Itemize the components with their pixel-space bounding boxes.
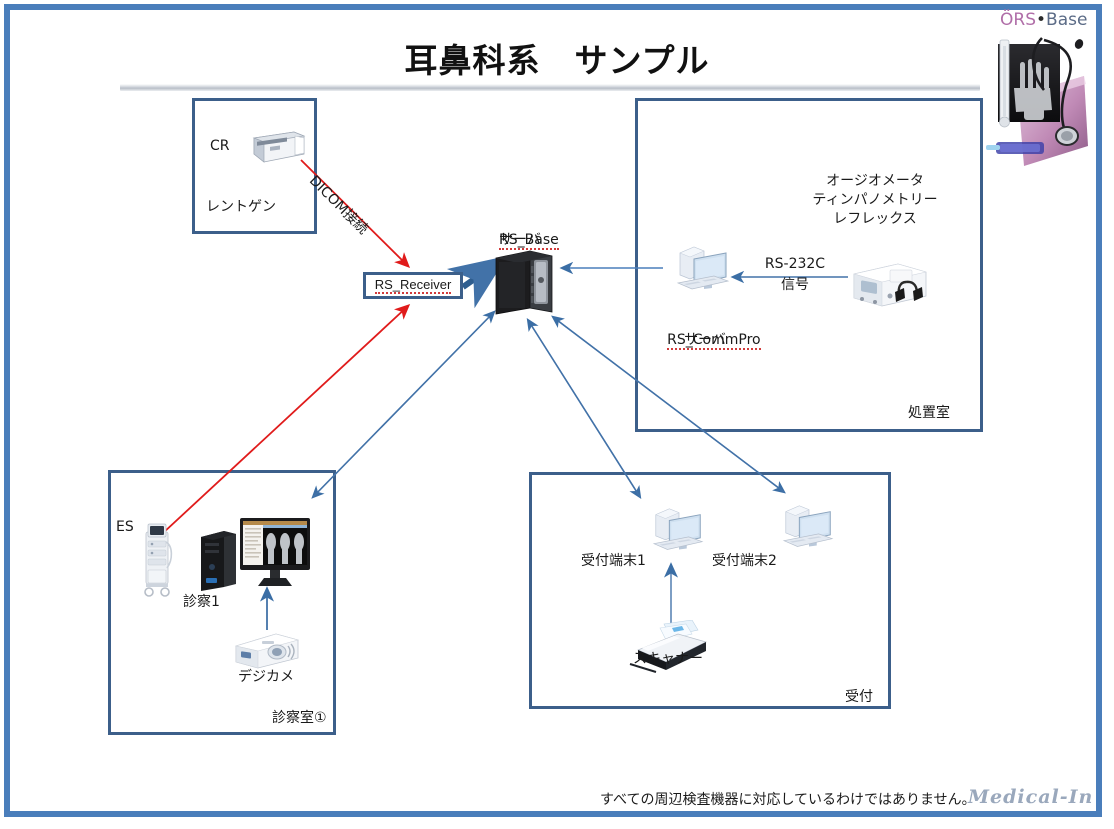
rs-receiver-label: RS_Receiver — [375, 277, 452, 294]
cr-label: CR — [210, 137, 230, 156]
digital-camera-label: デジカメ — [238, 668, 294, 687]
rs-base-logo-dot: • — [1036, 10, 1046, 30]
title-divider — [120, 84, 980, 91]
reception-pc1-label: 受付端末1 — [581, 552, 646, 571]
cr-printer-icon — [248, 124, 310, 168]
es-label: ES — [116, 518, 134, 537]
exam-pc-label: 診察1 — [183, 593, 220, 612]
reception-pc1-icon — [640, 505, 718, 563]
rs-base-label-line2: サーバ — [460, 231, 580, 250]
rs-commpro-label-line2: サーバ — [645, 331, 765, 350]
rs-commpro-pc-icon — [664, 243, 744, 303]
rs-base-logo-base: Base — [1046, 10, 1087, 30]
rs-base-brand-logo: ÖRS•Base — [1000, 10, 1087, 30]
exam-monitor-icon — [238, 516, 312, 588]
footer-brand-logo: Medical-In — [968, 786, 1093, 808]
audiometer-label-line2: ティンパノメトリー — [790, 191, 960, 210]
reception-pc2-label: 受付端末2 — [712, 552, 777, 571]
page-title: 耳鼻科系 サンプル — [0, 34, 1114, 82]
endoscope-cart-icon — [135, 520, 179, 598]
scanner-label: スキャナー — [633, 650, 703, 669]
footer-note: すべての周辺検査機器に対応しているわけではありません。 — [600, 789, 976, 809]
audiometer-icon — [848, 252, 940, 314]
diagram-canvas: 耳鼻科系 サンプル 処置室 診察室① 受付 — [0, 0, 1114, 829]
rs232c-label-line2: 信号 — [740, 276, 850, 295]
rs-base-logo-rs: RS — [1013, 10, 1036, 30]
rs232c-label-line1: RS-232C — [740, 255, 850, 274]
digital-camera-icon — [232, 628, 302, 672]
room-label-reception: 受付 — [845, 686, 873, 706]
cr-sublabel: レントゲン — [206, 198, 276, 217]
room-label-treatment: 処置室 — [908, 402, 950, 422]
rs-receiver-node[interactable]: RS_Receiver — [363, 272, 463, 299]
exam-pc-tower-icon — [198, 527, 240, 593]
room-label-exam1: 診察室① — [272, 707, 327, 727]
rs-base-logo-mark: Ö — [1000, 10, 1013, 30]
reception-pc2-icon — [770, 502, 848, 560]
audiometer-label-line3: レフレックス — [790, 210, 960, 229]
audiometer-label-line1: オージオメータ — [790, 172, 960, 191]
